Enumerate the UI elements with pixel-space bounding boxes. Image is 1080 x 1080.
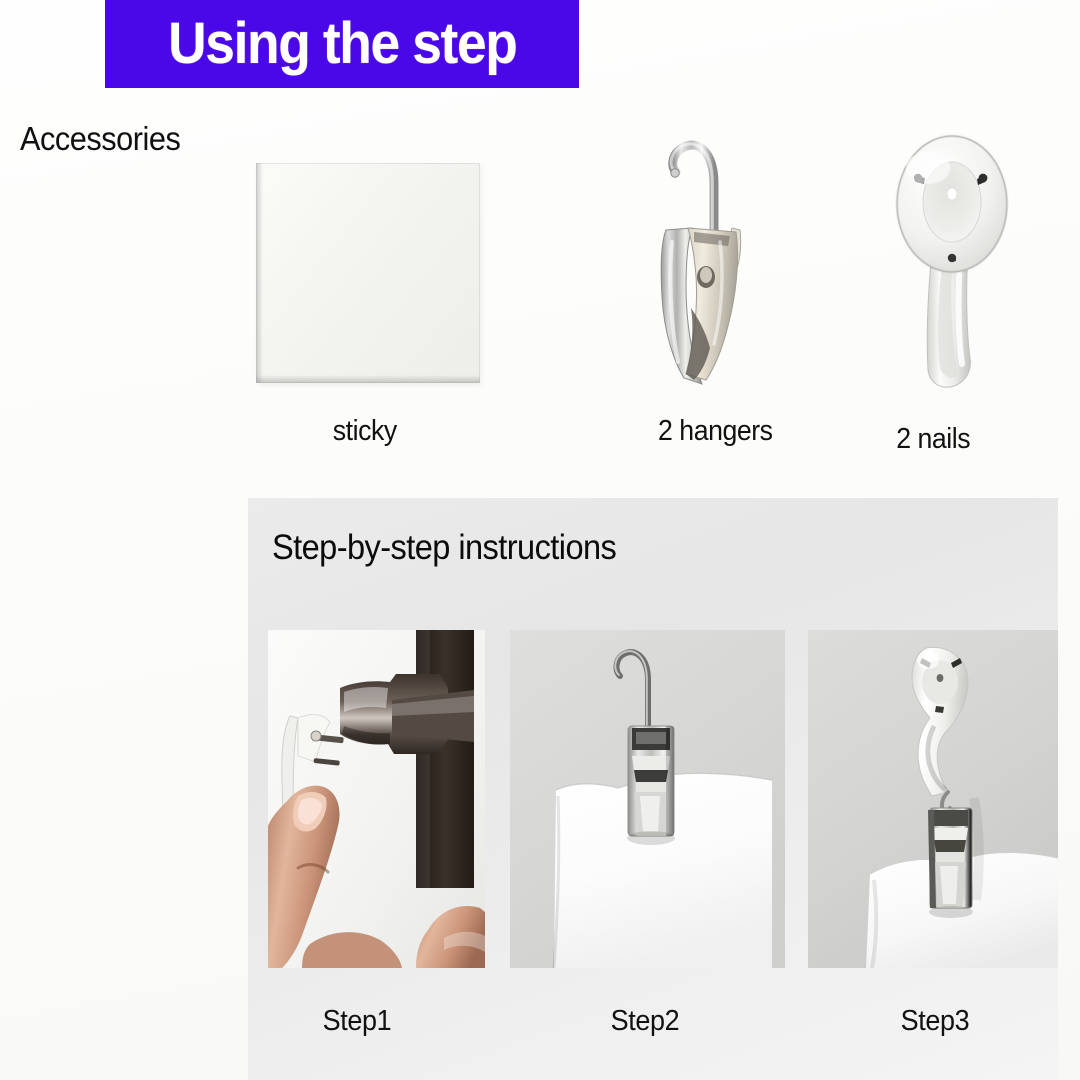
step3-photo (808, 630, 1058, 968)
accessory-label-hangers: 2 hangers (658, 415, 773, 448)
instructions-heading: Step-by-step instructions (272, 528, 616, 568)
accessory-label-sticky: sticky (333, 415, 397, 448)
hook-clip-icon (636, 112, 806, 392)
accessories-heading: Accessories (20, 120, 180, 158)
adhesive-pad-icon (256, 163, 480, 383)
header-banner: Using the step (105, 0, 579, 88)
step-label-3: Step3 (901, 1005, 970, 1038)
page-title: Using the step (168, 15, 516, 73)
step2-photo (510, 630, 785, 968)
step-label-1: Step1 (323, 1005, 392, 1038)
wall-hook-icon (880, 132, 1040, 394)
accessory-label-nails: 2 nails (896, 423, 970, 456)
step1-photo (268, 630, 485, 968)
step-label-2: Step2 (611, 1005, 680, 1038)
product-instruction-page: Using the step Accessories sticky (0, 0, 1080, 1080)
